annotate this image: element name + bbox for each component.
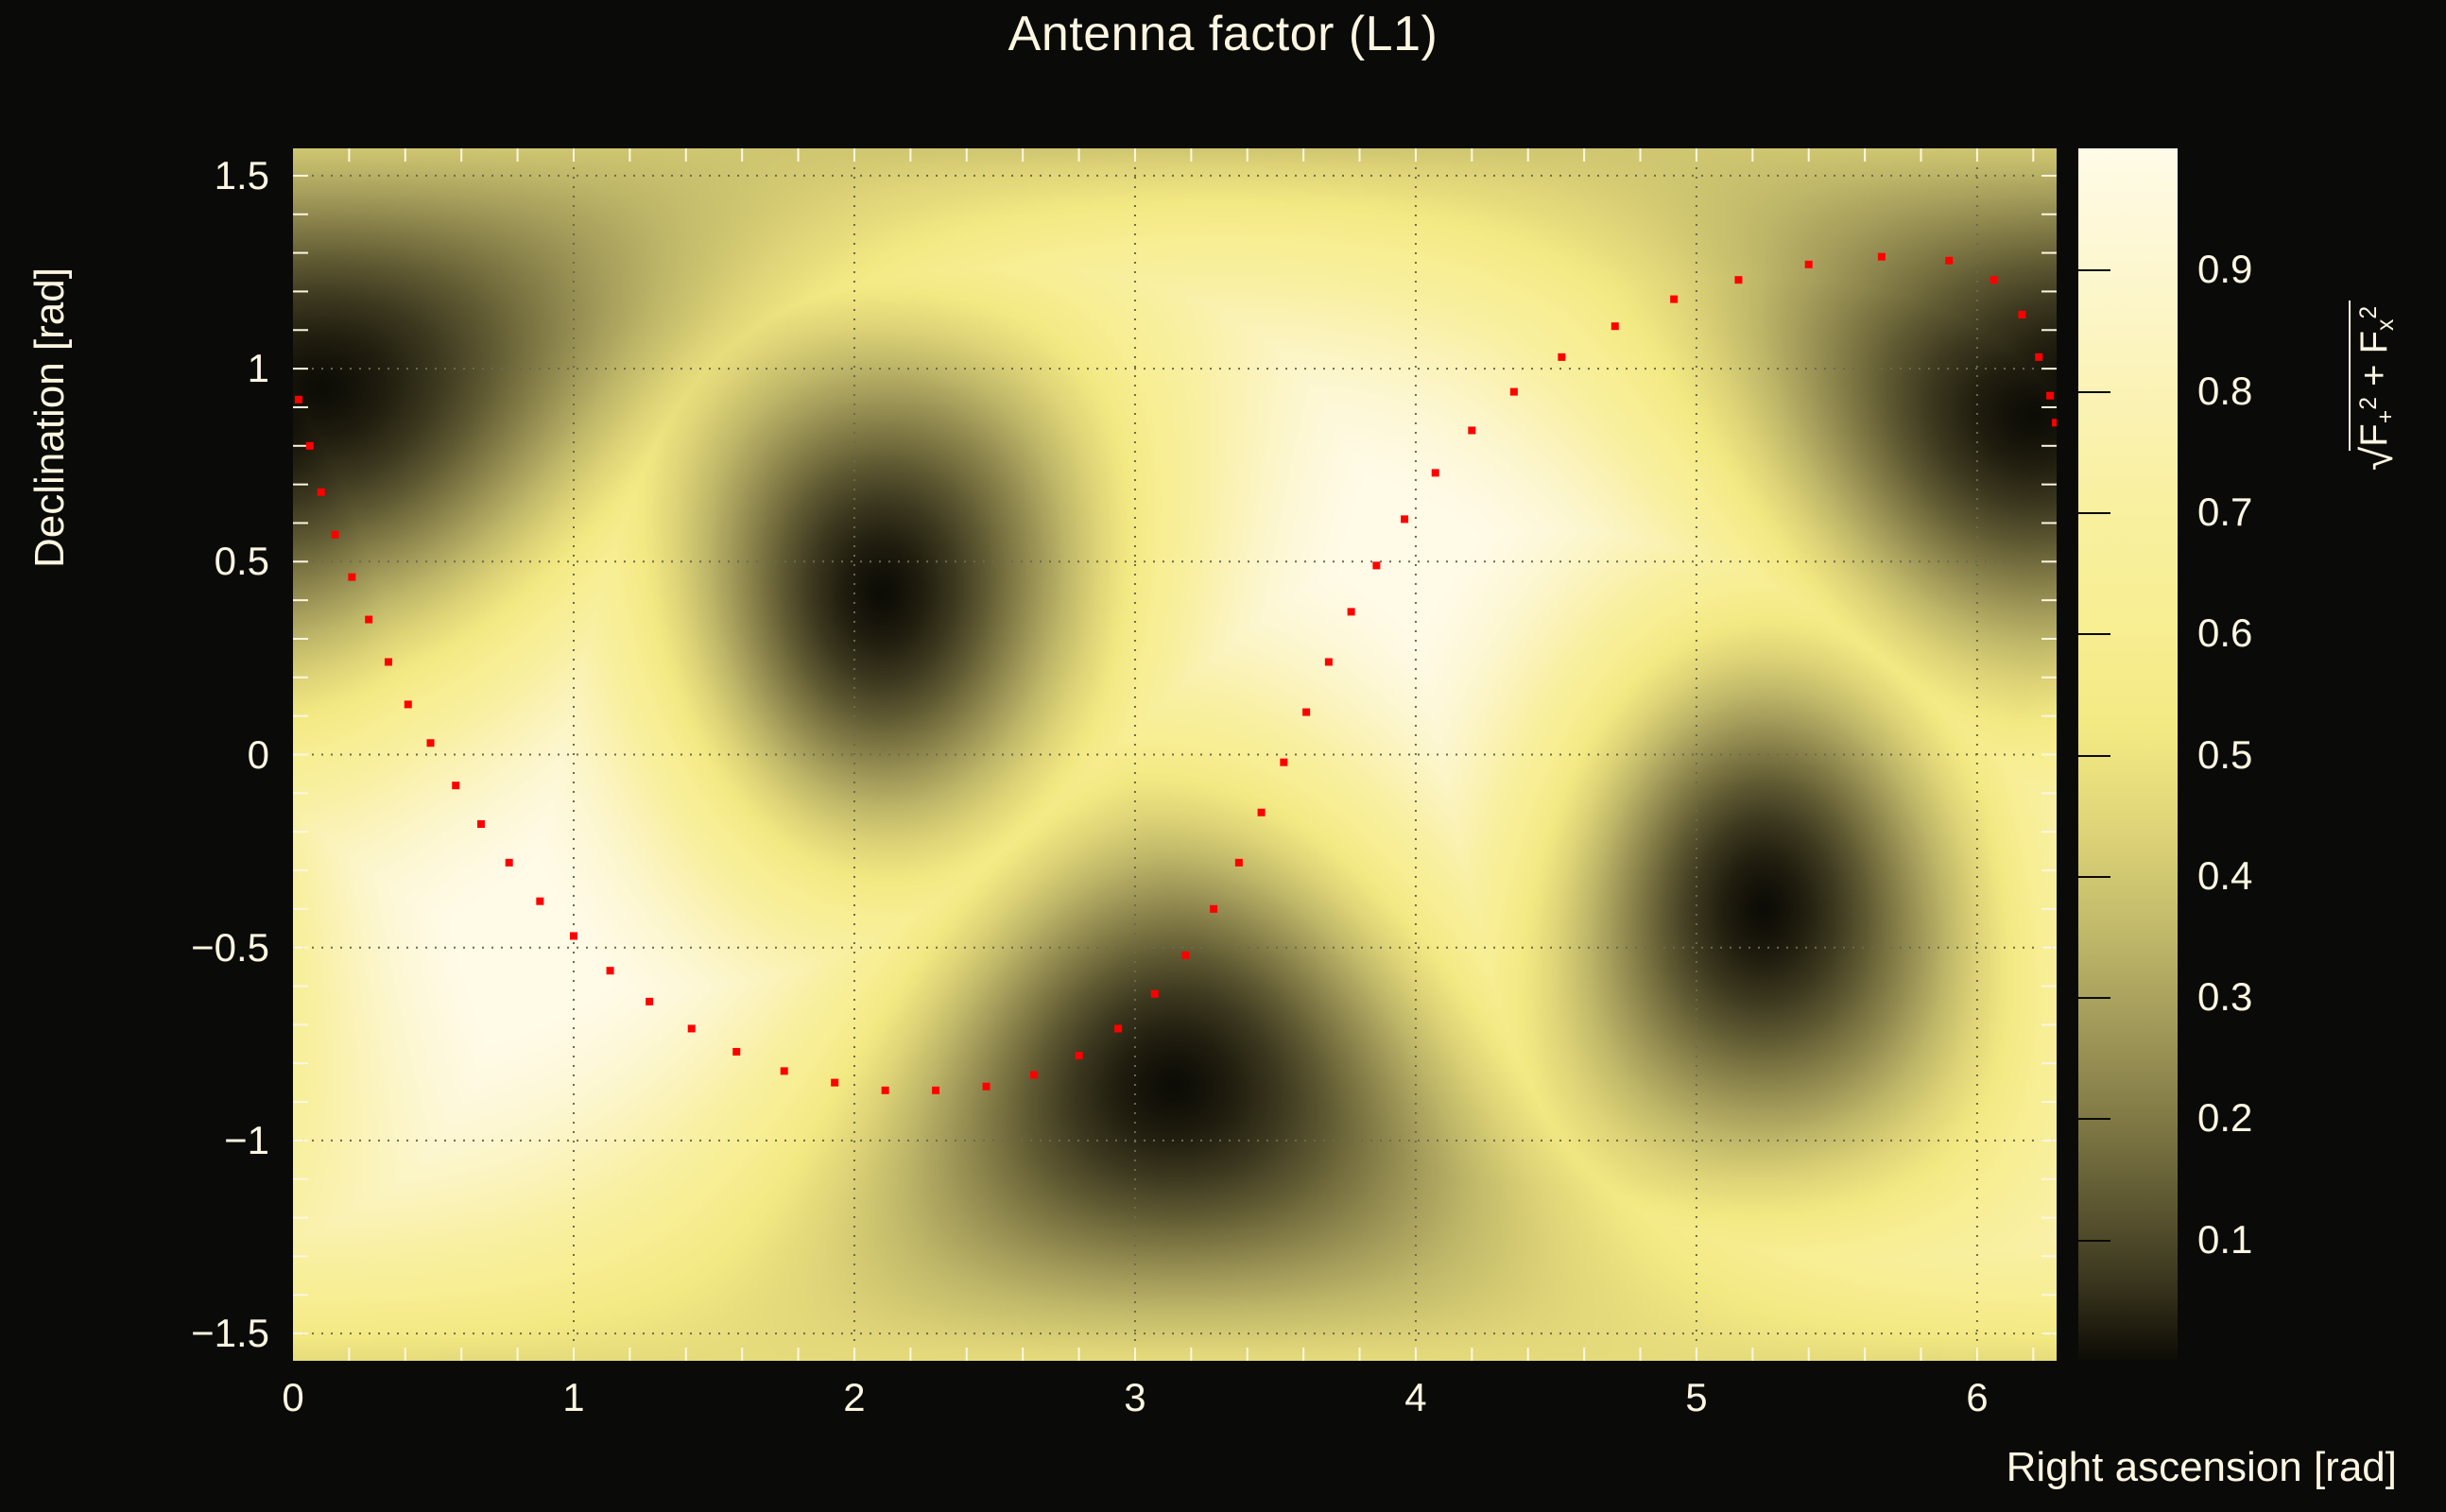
- colorbar-tick-label: 0.4: [2197, 853, 2252, 899]
- x-tick-label: 6: [1966, 1375, 1988, 1420]
- page-title: Antenna factor (L1): [0, 6, 2446, 62]
- y-tick-label: 1: [104, 346, 269, 391]
- x-tick-label: 2: [843, 1375, 865, 1420]
- plot-area: [293, 148, 2057, 1361]
- colorbar-tick-mark: [2078, 512, 2110, 514]
- colorbar-tick-label: 0.6: [2197, 610, 2252, 656]
- colorbar-tick-label: 0.9: [2197, 247, 2252, 292]
- y-tick-label: −1.5: [104, 1311, 269, 1356]
- colorbar-tick-label: 0.8: [2197, 369, 2252, 414]
- x-tick-label: 1: [562, 1375, 584, 1420]
- x-tick-label: 4: [1404, 1375, 1426, 1420]
- colorbar-tick-mark: [2078, 997, 2110, 999]
- colorbar-tick-mark: [2078, 269, 2110, 271]
- x-tick-label: 0: [282, 1375, 303, 1420]
- colorbar-tick-label: 0.3: [2197, 974, 2252, 1020]
- y-axis-title: Declination [rad]: [17, 148, 74, 1361]
- sqrt-expression: √F+2 + Fx2: [2349, 301, 2400, 476]
- x-tick-label: 5: [1685, 1375, 1707, 1420]
- y-tick-label: −1: [104, 1118, 269, 1163]
- colorbar-title: √F+2 + Fx2: [2317, 148, 2431, 526]
- y-tick-label: 0: [104, 732, 269, 778]
- colorbar-tick-mark: [2078, 633, 2110, 635]
- x-axis-title: Right ascension [rad]: [2007, 1444, 2397, 1491]
- colorbar-tick-mark: [2078, 1240, 2110, 1242]
- y-tick-label: −0.5: [104, 925, 269, 971]
- colorbar-tick-label: 0.2: [2197, 1095, 2252, 1141]
- colorbar-tick-label: 0.5: [2197, 732, 2252, 778]
- colorbar-tick-label: 0.7: [2197, 490, 2252, 535]
- y-tick-label: 0.5: [104, 539, 269, 584]
- radicand: F+2 + Fx2: [2349, 301, 2400, 451]
- x-tick-label: 3: [1124, 1375, 1145, 1420]
- heatmap-canvas: [293, 148, 2057, 1361]
- colorbar-tick-mark: [2078, 876, 2110, 878]
- colorbar-tick-mark: [2078, 1118, 2110, 1120]
- colorbar-tick-mark: [2078, 755, 2110, 757]
- colorbar-tick-label: 0.1: [2197, 1217, 2252, 1263]
- colorbar-tick-mark: [2078, 391, 2110, 393]
- y-axis-title-label: Declination [rad]: [26, 219, 74, 616]
- y-tick-label: 1.5: [104, 153, 269, 198]
